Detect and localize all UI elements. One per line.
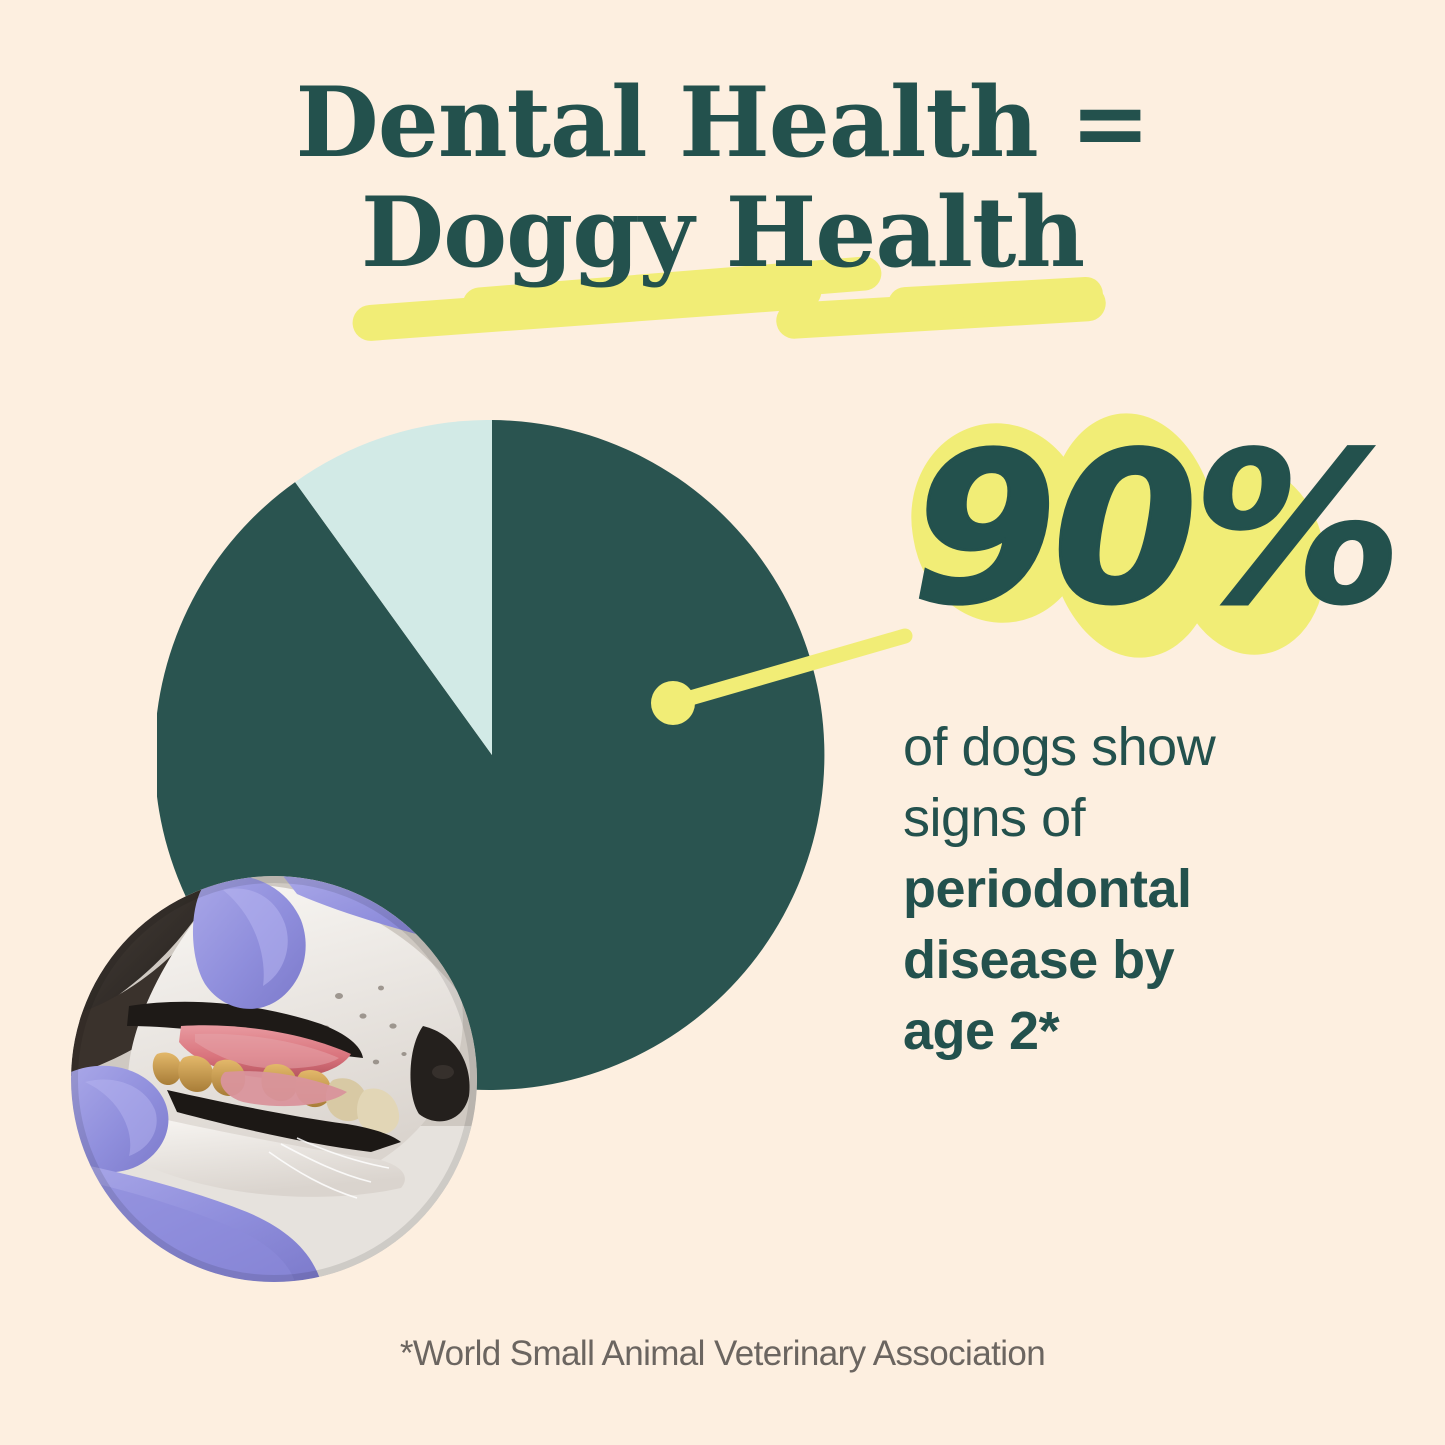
dog-dental-photo-illustration [71,876,477,1282]
title-line-2: Doggy Health [0,178,1445,288]
body-line-1: of dogs show [903,712,1373,783]
title-line-1: Dental Health = [0,68,1445,178]
body-line-2: signs of [903,783,1373,854]
dog-dental-photo [71,876,477,1282]
stat-percentage: 90% [890,405,1350,655]
body-line-3: periodontal [903,854,1373,925]
infographic-canvas: Dental Health = Doggy Health 90% of dogs… [0,0,1445,1445]
body-line-5: age 2* [903,996,1373,1067]
stat-callout: 90% [890,405,1350,685]
body-line-4: disease by [903,925,1373,996]
footnote-source: *World Small Animal Veterinary Associati… [0,1332,1445,1376]
page-title: Dental Health = Doggy Health [0,68,1445,288]
callout-body-text: of dogs show signs of periodontal diseas… [903,712,1373,1067]
